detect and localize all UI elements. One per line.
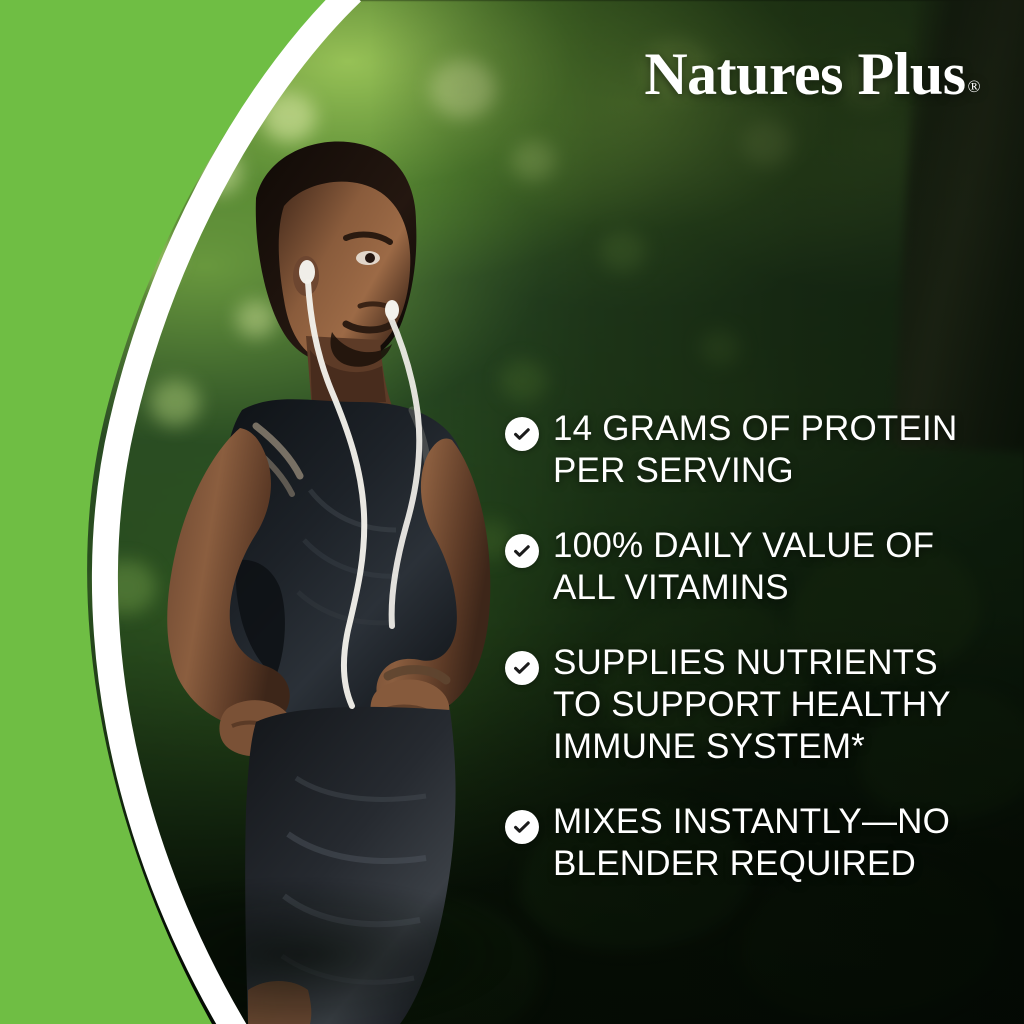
brand-logo: Natures Plus®: [644, 44, 978, 104]
benefit-item-mixability: MIXES INSTANTLY—NO BLENDER REQUIRED: [505, 801, 1005, 885]
benefit-list: 14 GRAMS OF PROTEIN PER SERVING 100% DAI…: [505, 408, 1005, 885]
benefit-text: MIXES INSTANTLY—NO BLENDER REQUIRED: [553, 801, 950, 885]
benefit-item-immune: SUPPLIES NUTRIENTS TO SUPPORT HEALTHY IM…: [505, 642, 1005, 768]
benefit-text: SUPPLIES NUTRIENTS TO SUPPORT HEALTHY IM…: [553, 642, 951, 768]
product-benefits-banner: Natures Plus® 14 GRAMS OF PROTEIN PER SE…: [0, 0, 1024, 1024]
benefit-text: 100% DAILY VALUE OF ALL VITAMINS: [553, 525, 934, 609]
benefit-text: 14 GRAMS OF PROTEIN PER SERVING: [553, 408, 957, 492]
check-circle-icon: [505, 534, 539, 568]
brand-logo-text: Natures Plus: [644, 41, 965, 107]
check-circle-icon: [505, 417, 539, 451]
runner-shadow: [90, 880, 510, 1024]
benefit-item-vitamins: 100% DAILY VALUE OF ALL VITAMINS: [505, 525, 1005, 609]
check-circle-icon: [505, 651, 539, 685]
check-circle-icon: [505, 810, 539, 844]
registered-trademark-icon: ®: [968, 77, 980, 96]
benefit-item-protein: 14 GRAMS OF PROTEIN PER SERVING: [505, 408, 1005, 492]
